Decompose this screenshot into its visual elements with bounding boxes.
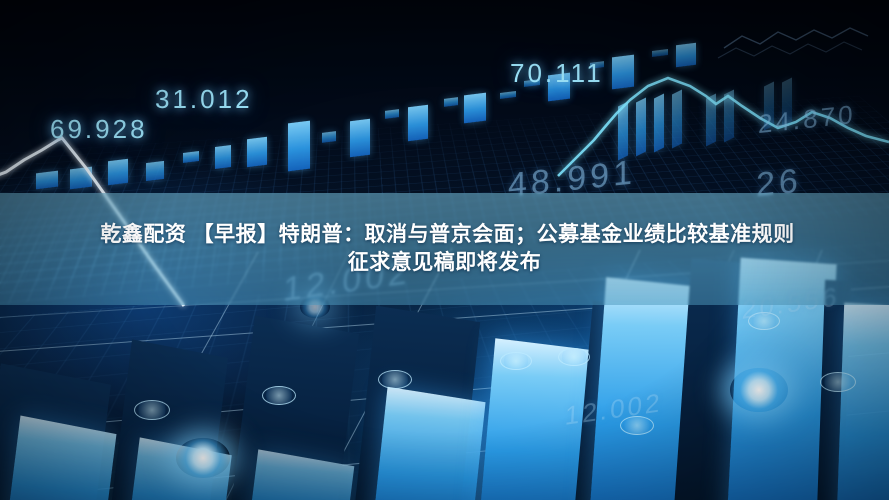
value-label-24870: 24.870 [758, 99, 856, 140]
value-label-12002-lower: 12.002 [564, 387, 663, 432]
headline-line-2: 征求意见稿即将发布 [348, 249, 542, 277]
value-label-31012: 31.012 [155, 84, 253, 115]
headline-band: 乾鑫配资 【早报】特朗普：取消与普京会面；公募基金业绩比较基准规则 征求意见稿即… [0, 193, 889, 305]
headline-line-1: 乾鑫配资 【早报】特朗普：取消与普京会面；公募基金业绩比较基准规则 [94, 221, 794, 249]
value-label-70111: 70.111 [510, 58, 604, 89]
banner-image: 69.928 31.012 70.111 48.991 24.870 12.00… [0, 0, 889, 500]
value-label-69928: 69.928 [50, 114, 148, 145]
